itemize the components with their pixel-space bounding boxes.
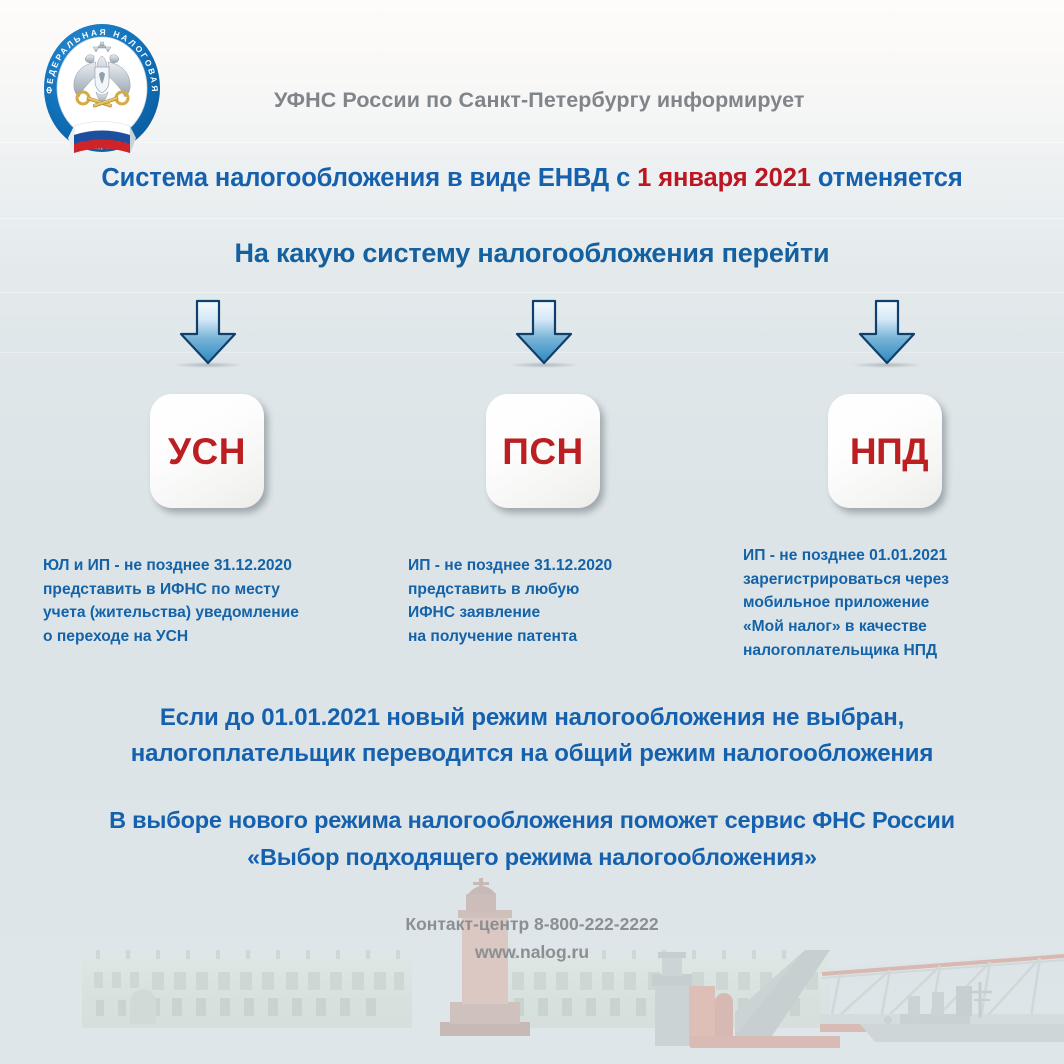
section-subtitle: На какую систему налогообложения перейти [0, 238, 1064, 269]
page-title-after: отменяется [811, 164, 963, 192]
regime-card-label: УСН [168, 433, 246, 470]
service-hint-paragraph: В выборе нового режима налогообложения п… [0, 802, 1064, 876]
divider-band-2 [0, 218, 1064, 219]
option-column-psn: ПСН ИП - не позднее 31.12.2020 представи… [378, 296, 708, 532]
page-title-before: Система налогообложения в виде ЕНВД с [101, 164, 637, 192]
option-column-npd: НПД ИП - не позднее 01.01.2021 зарегистр… [720, 296, 1050, 532]
option-note-psn: ИП - не позднее 31.12.2020 представить в… [408, 554, 612, 649]
card-container: УСН [20, 382, 350, 532]
regime-card-label: НПД [850, 433, 928, 470]
regime-card-npd[interactable]: НПД [828, 394, 942, 508]
divider-band-3 [0, 292, 1064, 293]
arrow-container [20, 296, 350, 382]
card-container: НПД [720, 382, 1050, 532]
options-columns: УСН ЮЛ и ИП - не позднее 31.12.2020 пред… [0, 296, 1064, 716]
footer: Контакт-центр 8-800-222-2222 www.nalog.r… [0, 910, 1064, 967]
header: ФЕДЕРАЛЬНАЯ НАЛОГОВАЯ СЛУЖБА [0, 0, 1064, 152]
option-column-usn: УСН ЮЛ и ИП - не позднее 31.12.2020 пред… [20, 296, 350, 532]
card-container: ПСН [378, 382, 708, 532]
down-arrow-icon [856, 298, 918, 366]
page-title: Система налогообложения в виде ЕНВД с 1 … [0, 164, 1064, 193]
page-title-highlight: 1 января 2021 [637, 164, 811, 192]
regime-card-usn[interactable]: УСН [150, 394, 264, 508]
regime-card-label: ПСН [502, 433, 584, 470]
down-arrow-icon [513, 298, 575, 366]
infographic-poster: ФЕДЕРАЛЬНАЯ НАЛОГОВАЯ СЛУЖБА [0, 0, 1064, 1064]
header-title: УФНС России по Санкт-Петербургу информир… [274, 88, 804, 113]
fns-emblem-icon: ФЕДЕРАЛЬНАЯ НАЛОГОВАЯ СЛУЖБА [36, 22, 168, 162]
option-note-usn: ЮЛ и ИП - не позднее 31.12.2020 представ… [43, 554, 299, 649]
arrow-container [378, 296, 708, 382]
down-arrow-icon [177, 298, 239, 366]
saint-petersburg-skyline [0, 874, 1064, 1064]
option-note-npd: ИП - не позднее 01.01.2021 зарегистриров… [743, 544, 949, 662]
regime-card-psn[interactable]: ПСН [486, 394, 600, 508]
contact-center-text: Контакт-центр 8-800-222-2222 [0, 910, 1064, 938]
fallback-regime-paragraph: Если до 01.01.2021 новый режим налогообл… [0, 700, 1064, 773]
arrow-container [720, 296, 1050, 382]
website-link[interactable]: www.nalog.ru [0, 938, 1064, 966]
